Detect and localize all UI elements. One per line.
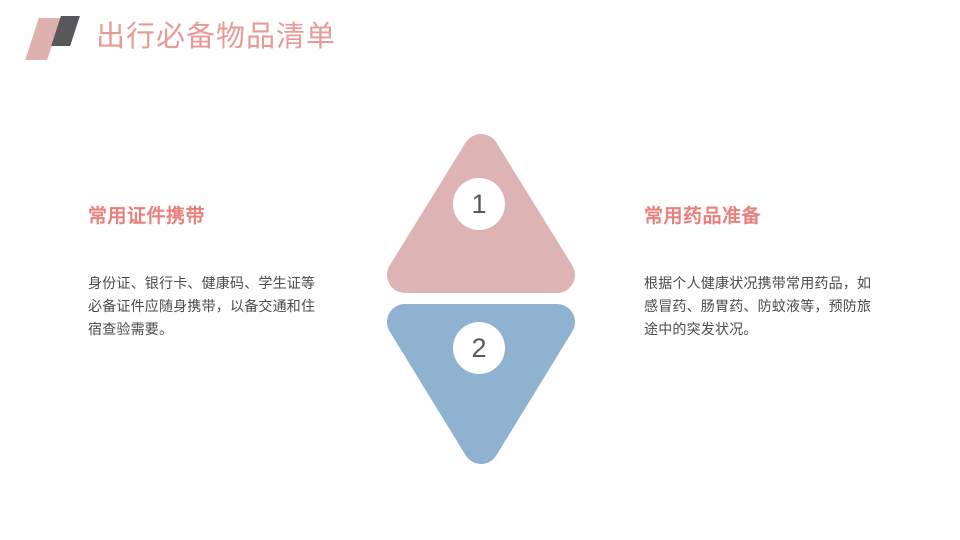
step-badge-2: 2	[453, 322, 505, 374]
step-badge-1: 1	[453, 178, 505, 230]
column-left-body: 身份证、银行卡、健康码、学生证等必备证件应随身携带，以备交通和住宿查验需要。	[88, 272, 316, 341]
slide-header: 出行必备物品清单	[0, 0, 960, 80]
content-column-right: 常用药品准备 根据个人健康状况携带常用药品，如感冒药、肠胃药、防蚊液等，预防旅途…	[644, 204, 880, 341]
column-right-heading: 常用药品准备	[644, 204, 880, 230]
step-badge-1-number: 1	[471, 189, 486, 220]
slide-root: 出行必备物品清单 1 2 常用证件携带 身份证、银行卡、健康码、学生证等必备证件…	[0, 0, 960, 540]
column-right-body: 根据个人健康状况携带常用药品，如感冒药、肠胃药、防蚊液等，预防旅途中的突发状况。	[644, 272, 876, 341]
page-title: 出行必备物品清单	[96, 16, 336, 58]
parallelogram-logo-icon	[30, 14, 82, 60]
column-left-heading: 常用证件携带	[88, 204, 324, 230]
triangle-diagram: 1 2	[385, 130, 577, 470]
step-badge-2-number: 2	[471, 333, 486, 364]
content-column-left: 常用证件携带 身份证、银行卡、健康码、学生证等必备证件应随身携带，以备交通和住宿…	[88, 204, 324, 341]
